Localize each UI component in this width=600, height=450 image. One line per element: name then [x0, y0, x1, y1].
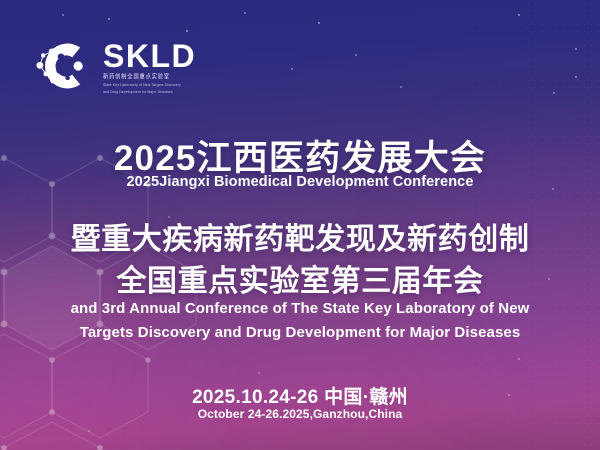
conference-poster: SKLD 新药创制全国重点实验室 State Key Laboratory of…	[0, 0, 600, 450]
star-dot	[62, 14, 64, 16]
skld-molecular-c-icon	[30, 33, 96, 99]
subtitle-en-line1: and 3rd Annual Conference of The State K…	[0, 300, 600, 317]
event-date-cn: 2025.10.24-26 中国·赣州	[0, 382, 600, 409]
main-title-en: 2025Jiangxi Biomedical Development Confe…	[0, 174, 600, 190]
star-dot	[518, 358, 520, 360]
star-dot	[258, 372, 260, 374]
skld-logo: SKLD 新药创制全国重点实验室 State Key Laboratory of…	[30, 33, 196, 99]
event-date-en: October 24-26.2025,Ganzhou,China	[0, 407, 600, 421]
logo-text-block: SKLD 新药创制全国重点实验室 State Key Laboratory of…	[103, 37, 196, 95]
star-dot	[400, 86, 402, 88]
star-dot	[553, 92, 555, 94]
star-dot	[355, 54, 357, 56]
logo-english-name-line1: State Key Laboratory of New Targets Disc…	[103, 83, 196, 88]
logo-wordmark: SKLD	[103, 40, 196, 72]
star-dot	[108, 18, 110, 20]
subtitle-cn-line1: 暨重大疾病新药靶发现及新药创制	[0, 214, 600, 258]
logo-english-name-line2: and Drug Development for Major Diseases	[103, 90, 196, 95]
star-dot	[244, 12, 246, 14]
subtitle-cn-line2: 全国重点实验室第三届年会	[0, 256, 600, 300]
star-dot	[575, 76, 577, 78]
logo-chinese-name: 新药创制全国重点实验室	[103, 75, 196, 81]
star-dot	[518, 14, 520, 16]
star-dot	[186, 30, 188, 32]
star-dot	[575, 48, 577, 50]
star-dot	[291, 68, 293, 70]
star-dot	[318, 22, 320, 24]
subtitle-en-line2: Targets Discovery and Drug Development f…	[0, 324, 600, 341]
star-dot	[88, 430, 90, 432]
